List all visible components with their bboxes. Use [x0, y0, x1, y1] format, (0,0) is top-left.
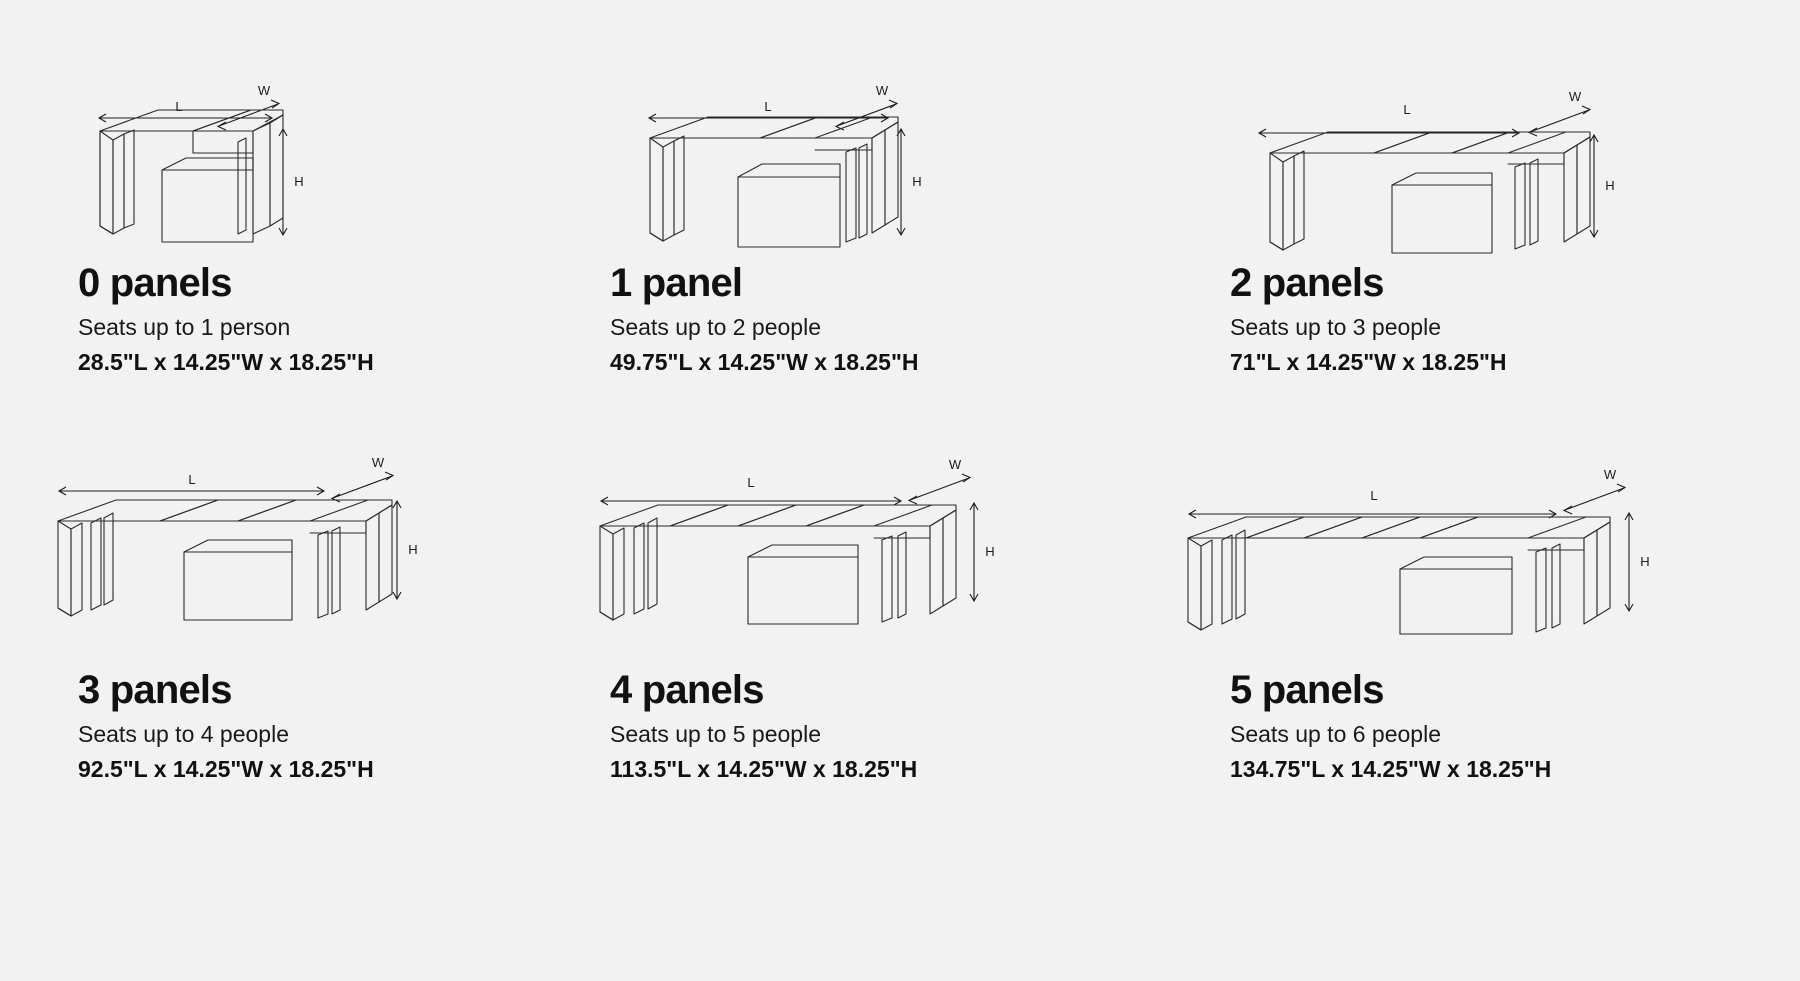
width-dimension-marker: W	[332, 455, 393, 502]
size-row-bottom: L W H	[0, 440, 1800, 784]
bench-illustration-4-panels: L W H	[610, 440, 1120, 655]
length-label: L	[764, 99, 771, 114]
bench-body	[1188, 517, 1610, 634]
height-label: H	[1640, 554, 1649, 569]
bench-body	[650, 117, 898, 247]
bench-body	[600, 505, 956, 624]
caption-2-panels: 2 panels Seats up to 3 people 71"L x 14.…	[1230, 262, 1800, 377]
length-dimension-marker: L	[1189, 488, 1556, 518]
card-seats: Seats up to 1 person	[78, 313, 560, 342]
height-dimension-marker: H	[1590, 135, 1615, 237]
width-label: W	[949, 457, 962, 472]
size-card-0-panels: L W H	[0, 18, 560, 377]
bench-illustration-0-panels: L W H	[78, 18, 560, 248]
height-label: H	[1605, 178, 1614, 193]
bench-body	[100, 110, 283, 242]
card-seats: Seats up to 6 people	[1230, 720, 1800, 749]
length-label: L	[1403, 102, 1410, 117]
card-dimensions: 28.5"L x 14.25"W x 18.25"H	[78, 348, 560, 377]
width-label: W	[876, 83, 889, 98]
caption-3-panels: 3 panels Seats up to 4 people 92.5"L x 1…	[78, 669, 560, 784]
length-dimension-marker: L	[601, 475, 901, 505]
width-dimension-marker: W	[1564, 467, 1625, 514]
card-seats: Seats up to 2 people	[610, 313, 1120, 342]
height-label: H	[985, 544, 994, 559]
size-card-5-panels: L W H	[1120, 440, 1800, 784]
card-seats: Seats up to 5 people	[610, 720, 1120, 749]
card-title: 0 panels	[78, 262, 560, 305]
width-dimension-marker: W	[1529, 89, 1590, 136]
bench-size-guide: L W H	[0, 0, 1800, 981]
card-dimensions: 71"L x 14.25"W x 18.25"H	[1230, 348, 1800, 377]
height-dimension-marker: H	[897, 129, 922, 235]
width-dimension-marker: W	[909, 457, 970, 504]
bench-illustration-1-panels: L W H	[610, 18, 1120, 248]
length-label: L	[747, 475, 754, 490]
card-title: 4 panels	[610, 669, 1120, 712]
size-card-1-panels: L W H	[560, 18, 1120, 377]
height-label: H	[912, 174, 921, 189]
width-label: W	[372, 455, 385, 470]
card-title: 2 panels	[1230, 262, 1800, 305]
bench-illustration-5-panels: L W H	[1230, 440, 1800, 655]
bench-illustration-3-panels: L W H	[78, 440, 560, 655]
size-card-3-panels: L W H	[0, 440, 560, 784]
card-seats: Seats up to 4 people	[78, 720, 560, 749]
card-title: 1 panel	[610, 262, 1120, 305]
length-label: L	[175, 99, 182, 114]
length-label: L	[188, 472, 195, 487]
caption-4-panels: 4 panels Seats up to 5 people 113.5"L x …	[610, 669, 1120, 784]
size-card-4-panels: L W H	[560, 440, 1120, 784]
width-label: W	[1604, 467, 1617, 482]
card-title: 5 panels	[1230, 669, 1800, 712]
size-card-2-panels: L W H	[1120, 18, 1800, 377]
card-title: 3 panels	[78, 669, 560, 712]
width-label: W	[1569, 89, 1582, 104]
bench-body	[1270, 132, 1590, 253]
length-label: L	[1370, 488, 1377, 503]
caption-0-panels: 0 panels Seats up to 1 person 28.5"L x 1…	[78, 262, 560, 377]
caption-1-panels: 1 panel Seats up to 2 people 49.75"L x 1…	[610, 262, 1120, 377]
length-dimension-marker: L	[59, 472, 324, 495]
size-row-top: L W H	[0, 18, 1800, 377]
card-seats: Seats up to 3 people	[1230, 313, 1800, 342]
card-dimensions: 113.5"L x 14.25"W x 18.25"H	[610, 755, 1120, 784]
height-label: H	[408, 542, 417, 557]
bench-illustration-2-panels: L W H	[1230, 18, 1800, 248]
length-dimension-marker: L	[649, 99, 888, 122]
width-dimension-marker: W	[836, 83, 897, 130]
card-dimensions: 134.75"L x 14.25"W x 18.25"H	[1230, 755, 1800, 784]
height-label: H	[294, 174, 303, 189]
bench-body	[58, 500, 392, 620]
caption-5-panels: 5 panels Seats up to 6 people 134.75"L x…	[1230, 669, 1800, 784]
card-dimensions: 49.75"L x 14.25"W x 18.25"H	[610, 348, 1120, 377]
width-label: W	[258, 83, 271, 98]
card-dimensions: 92.5"L x 14.25"W x 18.25"H	[78, 755, 560, 784]
height-dimension-marker: H	[970, 503, 995, 601]
height-dimension-marker: H	[1625, 513, 1650, 611]
height-dimension-marker: H	[393, 501, 418, 599]
